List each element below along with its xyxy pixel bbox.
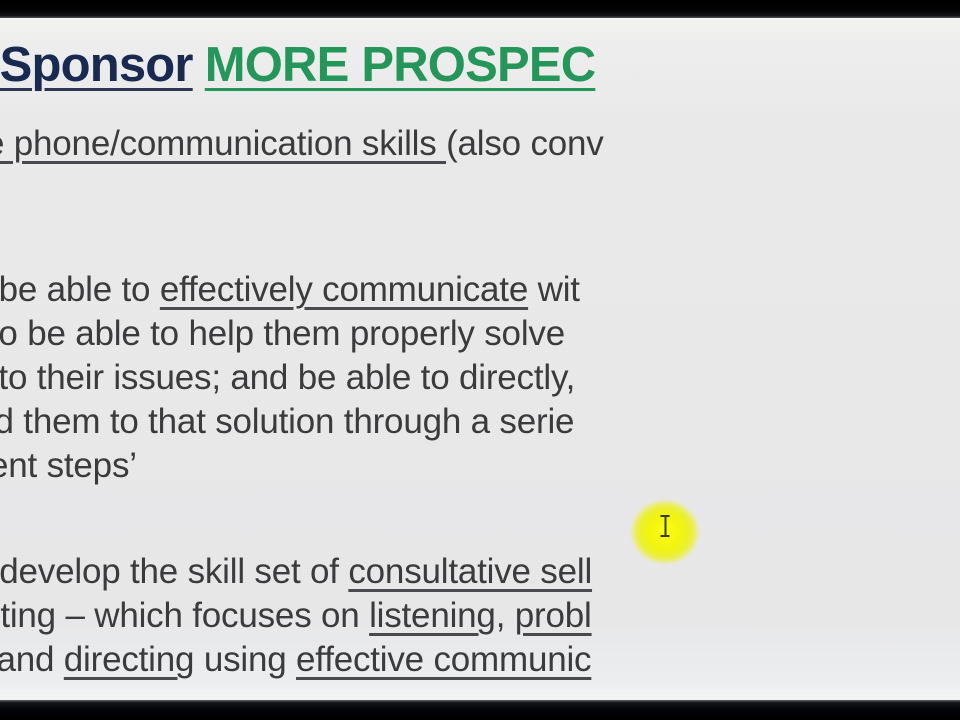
body-text: tially, develop the skill set of xyxy=(0,552,348,591)
letterbox-bar-top xyxy=(0,0,960,18)
body-text: ly lead them to that solution through a … xyxy=(0,402,574,441)
slide-title-primary: w To Sponsor xyxy=(0,38,193,92)
emphasized-text: effective communic xyxy=(296,640,591,679)
presentation-slide: w To SponsorMORE PROSPEC ective phone/co… xyxy=(0,18,960,700)
body-text: ution to their issues; and be able to di… xyxy=(0,358,575,397)
body-text: pect to be able to help them properly so… xyxy=(0,314,565,353)
emphasized-text: consultative sell xyxy=(348,552,592,591)
body-text: (also conv xyxy=(446,124,604,163)
letterbox-bar-bottom xyxy=(0,700,960,720)
body-text: , and xyxy=(0,640,64,679)
body-text: recruiting – which focuses on xyxy=(0,596,369,635)
body-text: must be able to xyxy=(0,270,160,309)
emphasized-text: directing xyxy=(64,640,195,679)
screencast-viewport: w To SponsorMORE PROSPEC ective phone/co… xyxy=(0,0,960,720)
slide-paragraph: must be able to effectively communicate … xyxy=(0,268,960,488)
slide-text-line: mitment steps’ xyxy=(0,444,960,488)
emphasized-text: probl xyxy=(515,596,592,635)
body-text: mitment steps’ xyxy=(0,446,137,485)
body-text: using xyxy=(194,640,296,679)
slide-paragraph: tially, develop the skill set of consult… xyxy=(0,550,960,682)
body-text: wit xyxy=(528,270,580,309)
slide-text-line: tially, develop the skill set of consult… xyxy=(0,550,960,594)
slide-text-line: ls)... xyxy=(0,166,960,210)
emphasized-text: effectively communicate xyxy=(160,270,528,309)
emphasized-text: ective phone/communication skills xyxy=(0,124,446,163)
slide-text-line: pect to be able to help them properly so… xyxy=(0,312,960,356)
slide-paragraph: ective phone/communication skills (also … xyxy=(0,122,960,210)
slide-text-line: must be able to effectively communicate … xyxy=(0,268,960,312)
slide-text-line: ution to their issues; and be able to di… xyxy=(0,356,960,400)
slide-title: w To SponsorMORE PROSPEC xyxy=(0,40,595,91)
slide-text-line: recruiting – which focuses on listening,… xyxy=(0,594,960,638)
slide-text-line: ly lead them to that solution through a … xyxy=(0,400,960,444)
slide-text-line: ving, and directing using effective comm… xyxy=(0,638,960,682)
emphasized-text: listening xyxy=(369,596,496,635)
slide-body: ective phone/communication skills (also … xyxy=(0,122,960,682)
slide-text-line: ective phone/communication skills (also … xyxy=(0,122,960,166)
body-text: , xyxy=(496,596,515,635)
slide-title-accent: MORE PROSPEC xyxy=(205,38,596,92)
